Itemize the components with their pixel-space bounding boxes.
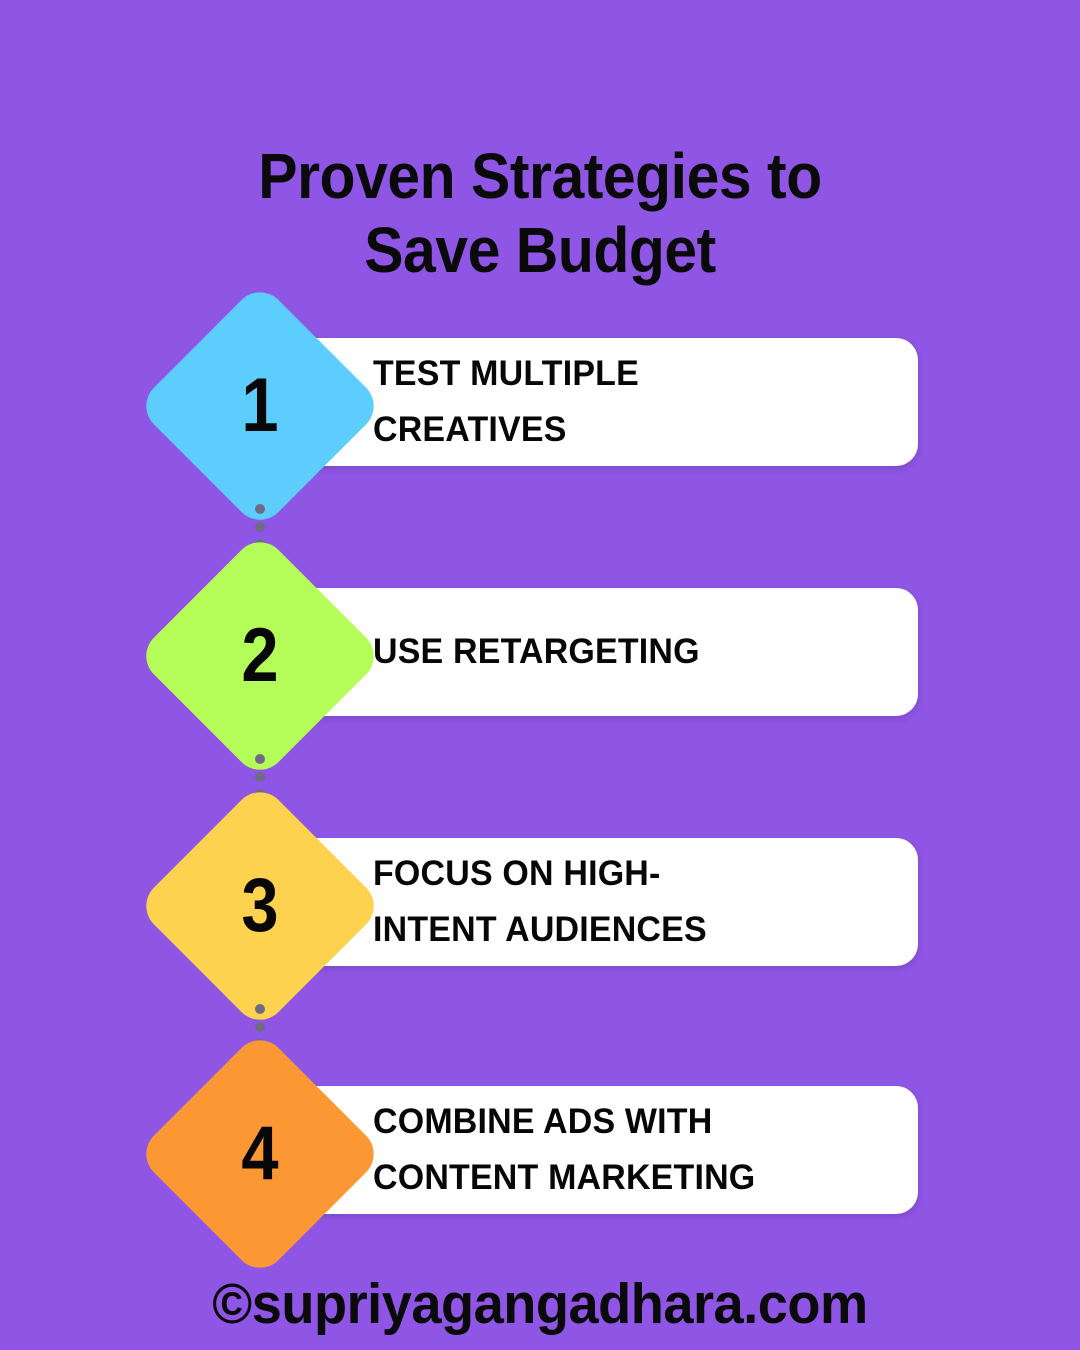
connector-dot [255, 1022, 265, 1032]
list-item[interactable]: COMBINE ADS WITH CONTENT MARKETING 4 [0, 1066, 1080, 1242]
step-number: 3 [183, 818, 338, 994]
step-number: 4 [183, 1066, 338, 1242]
connector-dot [255, 754, 265, 764]
connector-dot [255, 504, 265, 514]
connector-dot [255, 772, 265, 782]
step-label: COMBINE ADS WITH CONTENT MARKETING [373, 1094, 755, 1206]
watermark-credit: ©supriyagangadhara.com [27, 1272, 1053, 1336]
list-item[interactable]: USE RETARGETING 2 [0, 568, 1080, 744]
step-number: 2 [183, 568, 338, 744]
infographic-page: { "background_color": "#8F55E4", "title"… [0, 0, 1080, 1350]
step-label: FOCUS ON HIGH- INTENT AUDIENCES [373, 846, 707, 958]
list-item[interactable]: FOCUS ON HIGH- INTENT AUDIENCES 3 [0, 818, 1080, 994]
step-number: 1 [183, 318, 338, 494]
connector-dot [255, 1004, 265, 1014]
connector-dot [255, 522, 265, 532]
steps-list: TEST MULTIPLE CREATIVES 1 USE RETARGETIN… [0, 318, 1080, 1218]
page-title: Proven Strategies to Save Budget [43, 139, 1037, 287]
list-item[interactable]: TEST MULTIPLE CREATIVES 1 [0, 318, 1080, 494]
step-label: TEST MULTIPLE CREATIVES [373, 346, 639, 458]
step-label: USE RETARGETING [373, 624, 700, 680]
